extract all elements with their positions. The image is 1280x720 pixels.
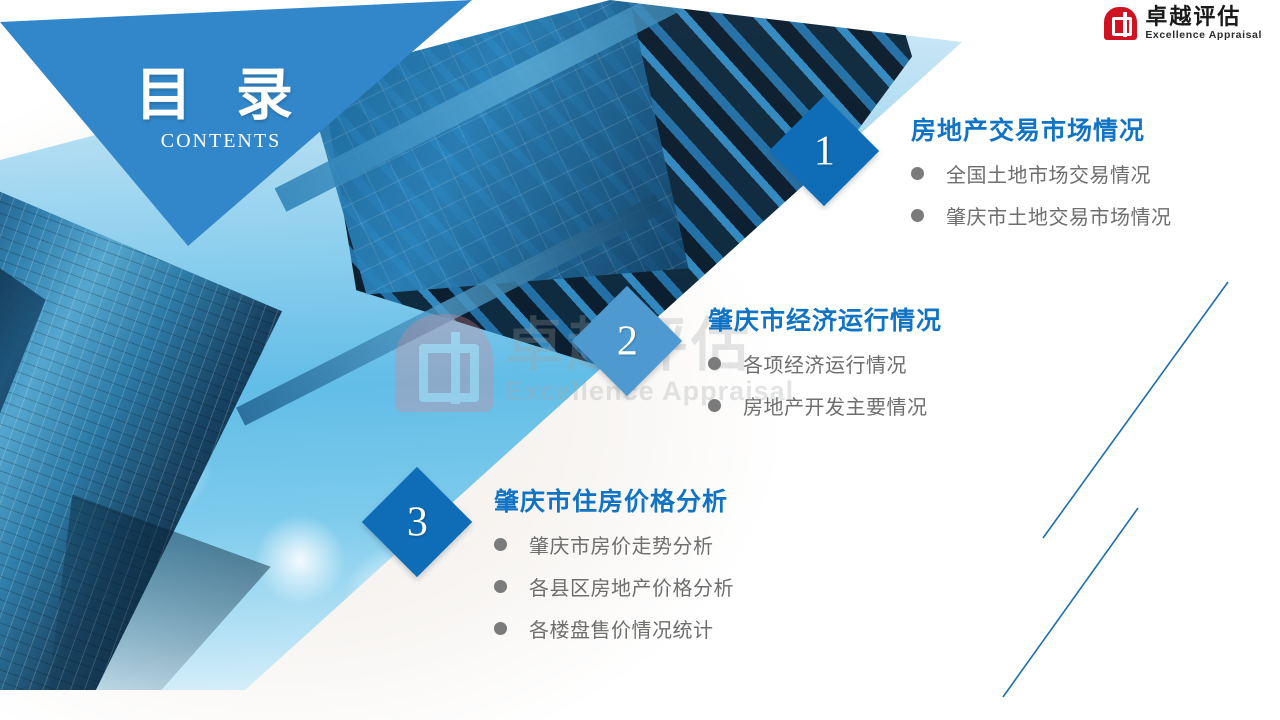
section-bullets-3: 肇庆市房价走势分析 各县区房地产价格分析 各楼盘售价情况统计 [494,530,734,643]
section-number-2: 2 [617,320,638,362]
section-title-1[interactable]: 房地产交易市场情况 [911,116,1172,146]
bullet-dot-icon [494,580,507,593]
section-number-badge-3: 3 [362,467,472,577]
bullet-dot-icon [708,399,721,412]
appraisal-logo-icon [1104,7,1137,40]
brand-name-en: Excellence Appraisal [1145,30,1262,41]
brand-name-cn: 卓越评估 [1145,5,1262,28]
toc-entry-1[interactable]: 1 房地产交易市场情况 全国土地市场交易情况 肇庆市土地交易市场情况 [785,112,1172,230]
section-number-1: 1 [814,130,835,172]
bullet-dot-icon [708,357,721,370]
list-item[interactable]: 各项经济运行情况 [708,349,942,378]
bullet-label: 肇庆市土地交易市场情况 [946,201,1172,230]
section-title-3[interactable]: 肇庆市住房价格分析 [494,487,734,517]
section-bullets-1: 全国土地市场交易情况 肇庆市土地交易市场情况 [911,159,1172,230]
toc-entry-2[interactable]: 2 肇庆市经济运行情况 各项经济运行情况 房地产开发主要情况 [588,302,942,420]
list-item[interactable]: 房地产开发主要情况 [708,391,942,420]
bullet-label: 各楼盘售价情况统计 [529,614,714,643]
bullet-dot-icon [911,167,924,180]
bullet-label: 各县区房地产价格分析 [529,572,734,601]
bullet-dot-icon [911,209,924,222]
bullet-dot-icon [494,538,507,551]
section-number-badge-1: 1 [769,96,879,206]
list-item[interactable]: 肇庆市房价走势分析 [494,530,734,559]
bullet-label: 全国土地市场交易情况 [946,159,1151,188]
presentation-slide: 卓越评估 Excellence Appraisal 目 录 CONTENTS 卓… [0,0,1280,720]
list-item[interactable]: 各县区房地产价格分析 [494,572,734,601]
toc-entry-3[interactable]: 3 肇庆市住房价格分析 肇庆市房价走势分析 各县区房地产价格分析 各楼盘售价情况… [378,483,734,643]
section-number-3: 3 [407,501,428,543]
bullet-label: 房地产开发主要情况 [743,391,928,420]
list-item[interactable]: 各楼盘售价情况统计 [494,614,734,643]
list-item[interactable]: 全国土地市场交易情况 [911,159,1172,188]
bullet-label: 肇庆市房价走势分析 [529,530,714,559]
list-item[interactable]: 肇庆市土地交易市场情况 [911,201,1172,230]
brand-logo: 卓越评估 Excellence Appraisal [1104,5,1262,41]
section-bullets-2: 各项经济运行情况 房地产开发主要情况 [708,349,942,420]
section-number-badge-2: 2 [572,286,682,396]
bullet-dot-icon [494,622,507,635]
section-title-2[interactable]: 肇庆市经济运行情况 [708,306,942,336]
bullet-label: 各项经济运行情况 [743,349,907,378]
